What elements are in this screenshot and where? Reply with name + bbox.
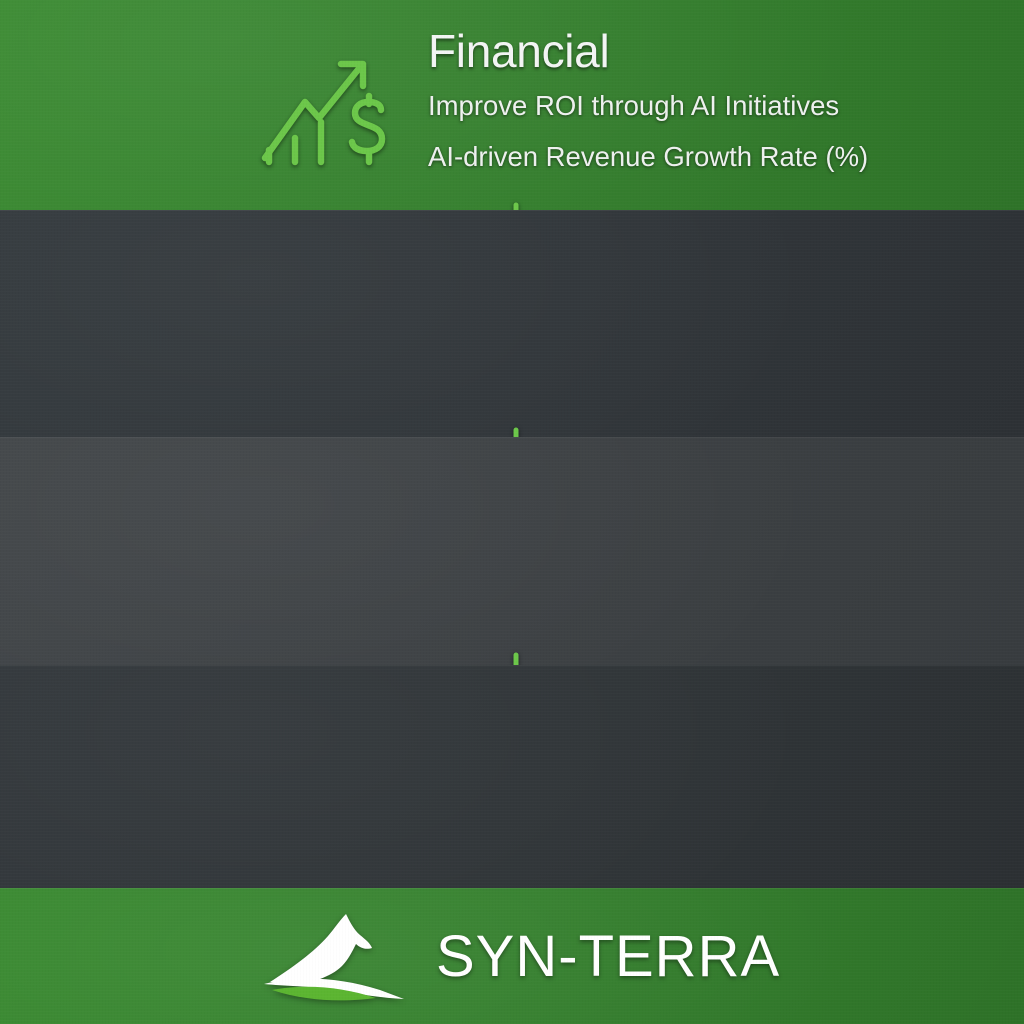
financial-title: Financial	[428, 27, 996, 75]
strategy-map-infographic: Financial Improve ROI through AI Initiat…	[0, 0, 1024, 1024]
growth-chart-dollar-icon	[252, 35, 392, 175]
perspective-row-internal-processes: Internal Processes Streamline Operations…	[0, 437, 1024, 665]
brand-lockup: SYN-TERRA	[262, 908, 780, 1004]
financial-kpi: AI-driven Revenue Growth Rate (%)	[428, 142, 996, 172]
financial-text-block: Financial Improve ROI through AI Initiat…	[428, 27, 996, 172]
financial-objective: Improve ROI through AI Initiatives	[428, 91, 996, 121]
brand-name: SYN-TERRA	[436, 923, 780, 990]
mountain-peak-logo-icon	[262, 910, 410, 1002]
perspective-row-customer: Customer Enhance Client Satisfaction wit…	[0, 210, 1024, 437]
perspective-row-financial: Financial Improve ROI through AI Initiat…	[0, 0, 1024, 210]
perspective-row-learning-and-growth: Learning and Growth Develop AI Literacy …	[0, 665, 1024, 888]
